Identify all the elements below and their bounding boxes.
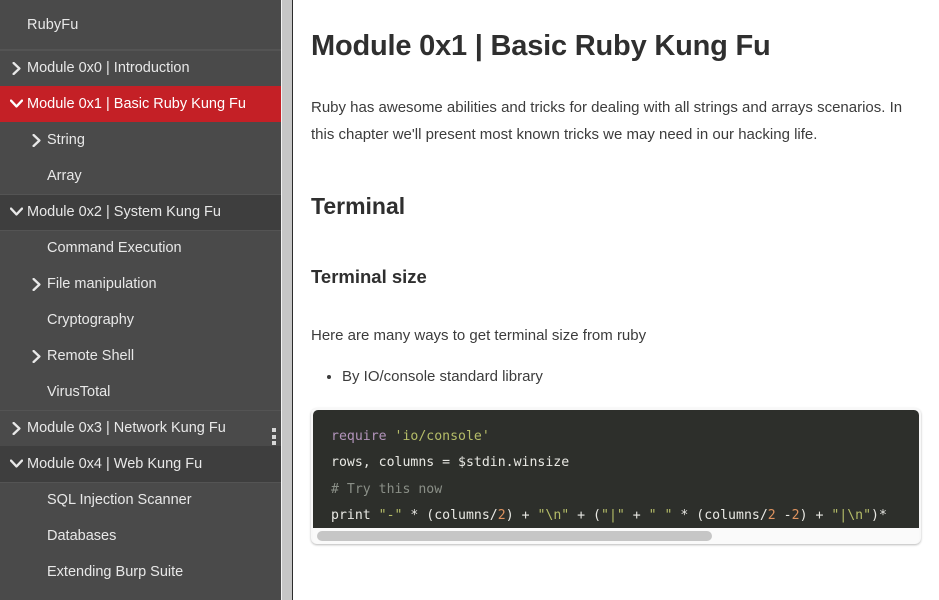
- sidebar-item-sql-injection-scanner[interactable]: SQL Injection Scanner: [0, 482, 281, 518]
- sidebar-item-label: SQL Injection Scanner: [47, 492, 192, 508]
- drag-handle-icon[interactable]: [272, 428, 277, 445]
- code-token-string: " ": [649, 508, 673, 523]
- sidebar-item-databases[interactable]: Databases: [0, 518, 281, 554]
- sidebar-scrollbar[interactable]: [281, 0, 293, 600]
- sidebar-item-virustotal[interactable]: VirusTotal: [0, 374, 281, 410]
- code-token-plain: +: [625, 508, 649, 523]
- code-token-keyword: require: [331, 429, 387, 444]
- sidebar-item-label: Module 0x2 | System Kung Fu: [27, 204, 221, 220]
- chevron-placeholder-icon: [28, 384, 45, 401]
- sidebar-item-label: Remote Shell: [47, 348, 134, 364]
- list-item: By IO/console standard library: [342, 363, 923, 390]
- code-token-string: "\n": [537, 508, 569, 523]
- chevron-right-icon[interactable]: [28, 276, 45, 293]
- code-token-number: 2: [768, 508, 776, 523]
- code-token-plain: print: [331, 508, 379, 523]
- code-token-plain: * (columns/: [672, 508, 767, 523]
- code-line: print "-" * (columns/2) + "\n" + ("|" + …: [331, 508, 887, 523]
- chevron-right-icon[interactable]: [8, 420, 25, 437]
- code-token-number: 2: [792, 508, 800, 523]
- drag-handle-dot: [272, 428, 276, 432]
- page-title: Module 0x1 | Basic Ruby Kung Fu: [311, 29, 923, 64]
- code-token-plain: * (columns/: [402, 508, 497, 523]
- code-line: # Try this now: [331, 482, 442, 497]
- code-token-plain: [387, 429, 395, 444]
- code-token-comment: # Try this now: [331, 482, 442, 497]
- chevron-placeholder-icon: [28, 312, 45, 329]
- code-horizontal-scrollbar-thumb[interactable]: [317, 531, 712, 541]
- sidebar-item-label: VirusTotal: [47, 384, 110, 400]
- chevron-down-icon[interactable]: [8, 96, 25, 113]
- sidebar-scrollbar-thumb[interactable]: [282, 0, 292, 600]
- drag-handle-dot: [272, 441, 276, 445]
- sidebar-item-label: Module 0x1 | Basic Ruby Kung Fu: [27, 96, 246, 112]
- intro-paragraph: Ruby has awesome abilities and tricks fo…: [311, 94, 911, 148]
- code-token-string: "|": [601, 508, 625, 523]
- sidebar-item-label: String: [47, 132, 85, 148]
- chevron-placeholder-icon: [28, 528, 45, 545]
- sidebar: RubyFu Module 0x0 | IntroductionModule 0…: [0, 0, 281, 600]
- subsection-intro-paragraph: Here are many ways to get terminal size …: [311, 322, 923, 349]
- code-block-container: require 'io/console' rows, columns = $st…: [311, 408, 921, 544]
- sidebar-item-label: Cryptography: [47, 312, 134, 328]
- sidebar-item-string[interactable]: String: [0, 122, 281, 158]
- code-token-string: 'io/console': [395, 429, 490, 444]
- sidebar-item-file-manipulation[interactable]: File manipulation: [0, 266, 281, 302]
- code-block[interactable]: require 'io/console' rows, columns = $st…: [313, 410, 919, 528]
- code-token-plain: ) +: [800, 508, 832, 523]
- code-token-plain: -: [776, 508, 792, 523]
- sidebar-item-label: Command Execution: [47, 240, 182, 256]
- sidebar-item-module-0x0-introduction[interactable]: Module 0x0 | Introduction: [0, 50, 281, 86]
- sidebar-item-label: Extending Burp Suite: [47, 564, 183, 580]
- code-block-text: require 'io/console' rows, columns = $st…: [313, 424, 919, 528]
- sidebar-item-module-0x2-system-kung-fu[interactable]: Module 0x2 | System Kung Fu: [0, 194, 281, 230]
- chevron-placeholder-icon: [28, 492, 45, 509]
- sidebar-item-module-0x3-network-kung-fu[interactable]: Module 0x3 | Network Kung Fu: [0, 410, 281, 446]
- sidebar-item-command-execution[interactable]: Command Execution: [0, 230, 281, 266]
- sidebar-item-label: Databases: [47, 528, 116, 544]
- sidebar-item-array[interactable]: Array: [0, 158, 281, 194]
- code-horizontal-scrollbar[interactable]: [313, 528, 919, 544]
- code-token-plain: )*: [871, 508, 887, 523]
- chevron-down-icon[interactable]: [8, 456, 25, 473]
- main-content: Module 0x1 | Basic Ruby Kung Fu Ruby has…: [293, 0, 939, 600]
- code-line: rows, columns = $stdin.winsize: [331, 455, 569, 470]
- code-token-number: 2: [498, 508, 506, 523]
- sidebar-item-cryptography[interactable]: Cryptography: [0, 302, 281, 338]
- chevron-down-icon[interactable]: [8, 204, 25, 221]
- code-token-string: "|\n": [831, 508, 871, 523]
- code-token-string: "-": [379, 508, 403, 523]
- app-root: RubyFu Module 0x0 | IntroductionModule 0…: [0, 0, 939, 600]
- code-token-plain: ) +: [506, 508, 538, 523]
- sidebar-item-module-0x4-web-kung-fu[interactable]: Module 0x4 | Web Kung Fu: [0, 446, 281, 482]
- section-heading-terminal: Terminal: [311, 193, 923, 221]
- code-token-plain: rows, columns = $stdin.winsize: [331, 455, 569, 470]
- chevron-right-icon[interactable]: [28, 348, 45, 365]
- sidebar-item-label: Module 0x4 | Web Kung Fu: [27, 456, 202, 472]
- sidebar-item-label: File manipulation: [47, 276, 157, 292]
- sidebar-item-extending-burp-suite[interactable]: Extending Burp Suite: [0, 554, 281, 590]
- chevron-placeholder-icon: [28, 564, 45, 581]
- bullet-list: By IO/console standard library: [311, 363, 923, 390]
- code-token-plain: + (: [569, 508, 601, 523]
- chevron-right-icon[interactable]: [8, 60, 25, 77]
- drag-handle-dot: [272, 435, 276, 439]
- sidebar-item-remote-shell[interactable]: Remote Shell: [0, 338, 281, 374]
- code-line: require 'io/console': [331, 429, 490, 444]
- sidebar-brand-header[interactable]: RubyFu: [0, 0, 281, 50]
- subsection-heading-terminal-size: Terminal size: [311, 266, 923, 288]
- sidebar-item-label: Module 0x0 | Introduction: [27, 60, 190, 76]
- sidebar-nav-list: Module 0x0 | IntroductionModule 0x1 | Ba…: [0, 50, 281, 590]
- chevron-placeholder-icon: [28, 240, 45, 257]
- sidebar-item-label: Module 0x3 | Network Kung Fu: [27, 420, 226, 436]
- sidebar-brand-title: RubyFu: [27, 17, 78, 33]
- chevron-placeholder-icon: [28, 168, 45, 185]
- sidebar-item-label: Array: [47, 168, 82, 184]
- sidebar-item-module-0x1-basic-ruby-kung-fu[interactable]: Module 0x1 | Basic Ruby Kung Fu: [0, 86, 281, 122]
- chevron-right-icon[interactable]: [28, 132, 45, 149]
